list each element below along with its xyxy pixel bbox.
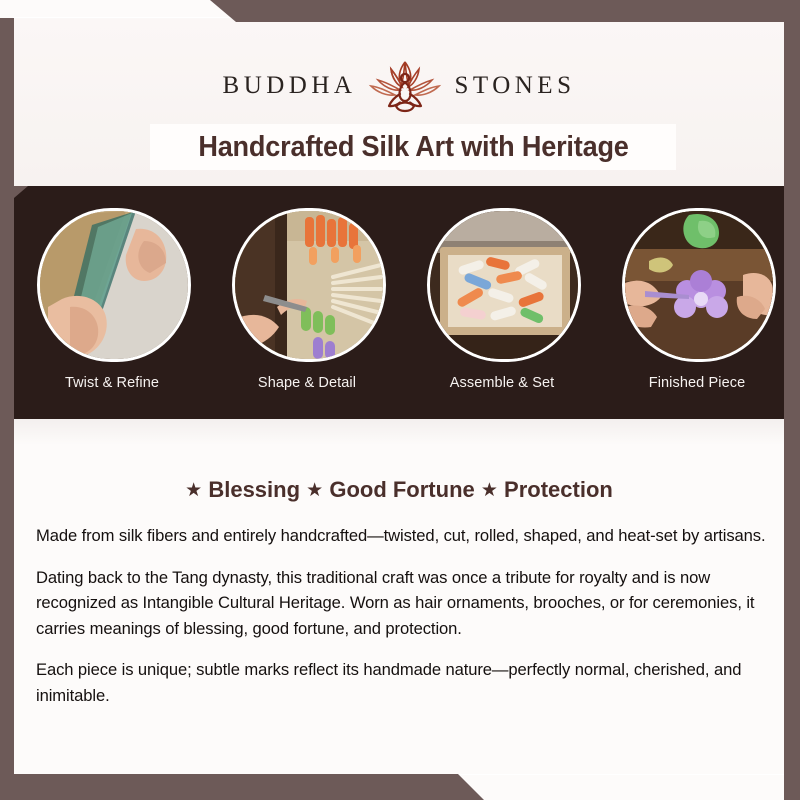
process-step-label: Finished Piece [622, 375, 772, 391]
description-paragraph: Dating back to the Tang dynasty, this tr… [36, 565, 766, 642]
process-step-2: Shape & Detail [232, 208, 382, 391]
photo-finished-purple-flower [622, 208, 776, 362]
frame-left-border [0, 18, 14, 800]
description-paragraph: Made from silk fibers and entirely handc… [36, 523, 766, 549]
infographic-page: BUDDHA [0, 0, 800, 800]
frame-bottom-border [0, 774, 800, 800]
process-steps-row: Twist & Refine [0, 186, 786, 419]
star-icon: ★ [306, 479, 323, 502]
photo-shaping-petals-with-tool [232, 208, 386, 362]
process-step-label: Assemble & Set [427, 375, 577, 391]
process-step-1: Twist & Refine [37, 208, 187, 391]
lotus-meditation-icon [366, 56, 444, 116]
photo-twisting-silk-on-board [37, 208, 191, 362]
frame-right-border [784, 0, 800, 800]
star-icon: ★ [481, 479, 498, 502]
content-top-shade [14, 419, 784, 445]
description-paragraphs: Made from silk fibers and entirely handc… [36, 523, 766, 708]
photo-tray-of-silk-pieces [427, 208, 581, 362]
process-step-label: Shape & Detail [232, 375, 382, 391]
header-section: BUDDHA [14, 19, 784, 187]
title-ribbon: Handcrafted Silk Art with Heritage [150, 124, 676, 170]
description-section: ★ Blessing ★ Good Fortune ★ Protection M… [14, 419, 784, 774]
process-step-4: Finished Piece [622, 208, 772, 391]
process-step-label: Twist & Refine [37, 375, 187, 391]
brand-word-right: STONES [454, 72, 575, 100]
blessing-item-2: Good Fortune [329, 477, 474, 502]
blessing-item-3: Protection [504, 477, 613, 502]
brand-word-left: BUDDHA [223, 72, 357, 100]
brand-logo: BUDDHA [14, 55, 784, 117]
blessing-item-1: Blessing [208, 477, 300, 502]
description-paragraph: Each piece is unique; subtle marks refle… [36, 657, 766, 708]
process-step-3: Assemble & Set [427, 208, 577, 391]
star-icon: ★ [185, 479, 202, 502]
page-title: Handcrafted Silk Art with Heritage [198, 131, 628, 164]
process-steps-band: Twist & Refine [0, 186, 786, 419]
blessing-tagline: ★ Blessing ★ Good Fortune ★ Protection [14, 477, 784, 503]
